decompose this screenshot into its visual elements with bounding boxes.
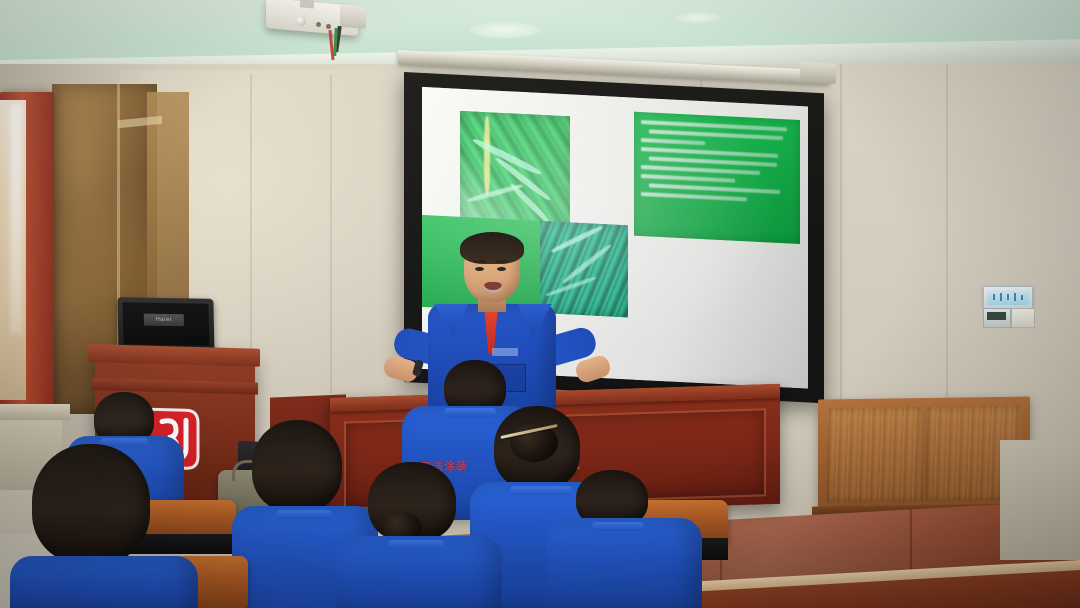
slide-text-line xyxy=(641,174,735,183)
attendee-head xyxy=(32,444,150,564)
attendee-collar xyxy=(592,522,644,531)
projector-lens-housing xyxy=(340,5,366,29)
projector-indicator-icon xyxy=(316,22,321,27)
recessed-light-icon xyxy=(676,12,720,23)
attendee-collar xyxy=(276,510,332,519)
cabinet-door-left[interactable] xyxy=(827,407,923,502)
presenter-chest-logo xyxy=(492,348,518,356)
presenter-eye-right xyxy=(497,267,506,271)
attendee-5 xyxy=(10,444,190,608)
recessed-light-icon xyxy=(470,22,540,38)
slide-text-line xyxy=(641,138,705,145)
slide-text-line xyxy=(649,156,777,166)
window-daylight xyxy=(10,104,22,334)
wall-cabinet[interactable] xyxy=(818,397,1030,512)
slide-text-line xyxy=(641,192,747,201)
projector-indicator-icon xyxy=(326,24,331,29)
presenter-eye-left xyxy=(475,267,484,271)
attendee-7 xyxy=(546,470,696,608)
wall-thermostat[interactable] xyxy=(983,308,1011,328)
wall-seam xyxy=(946,64,948,444)
projector-ceiling-mount xyxy=(300,0,314,9)
presenter-mouth xyxy=(484,282,502,293)
projector-lens-icon xyxy=(296,16,306,27)
attendee-uniform xyxy=(546,518,702,608)
slide-text-line xyxy=(641,165,760,175)
presenter-hair xyxy=(460,232,524,264)
attendee-collar xyxy=(388,540,444,549)
monitor-brand-label: Haier xyxy=(144,314,184,327)
floor-right xyxy=(1000,440,1080,560)
thermostat-display xyxy=(987,312,1006,320)
wall-switch-plate[interactable] xyxy=(1011,308,1035,328)
slide-text-panel xyxy=(634,112,800,244)
attendee-uniform xyxy=(10,556,198,608)
screen-roller-end-cap xyxy=(800,62,836,84)
wall-seam xyxy=(840,64,842,444)
slide-photo-bamboo xyxy=(460,111,570,235)
wall-seam xyxy=(330,74,332,394)
attendee-6 xyxy=(336,462,496,608)
wall-control-panel[interactable] xyxy=(983,286,1033,310)
photo-scene: 清洁 xyxy=(0,0,1080,608)
attendee-head xyxy=(252,420,342,512)
